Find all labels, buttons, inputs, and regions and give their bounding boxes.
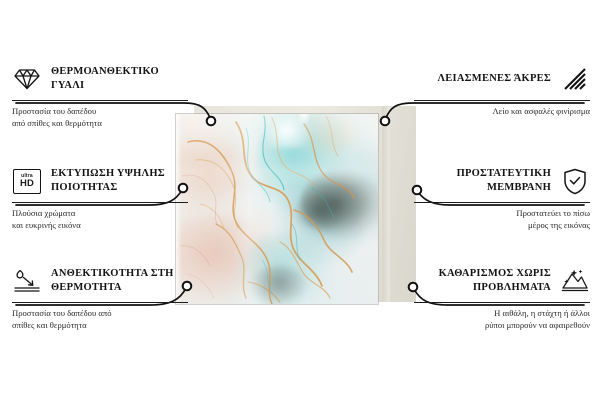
shield-check-icon [560, 166, 590, 196]
marble-artwork [176, 114, 378, 304]
feature-description: Προστασία του δαπέδου από σπίθες και θερ… [12, 307, 188, 332]
glass-sheen-spot [297, 114, 311, 125]
artwork-gold-veins [176, 114, 378, 304]
glass-panel [176, 114, 378, 304]
feature-divider [414, 302, 590, 303]
backing-board-edge [382, 106, 390, 302]
feature-description: Λείο και ασφαλές φινίρισμα [414, 105, 590, 117]
feature-header: ΘΕΡΜΟΑΝΘΕΚΤΙΚΟ ΓΥΑΛΙ [12, 62, 188, 96]
feature-divider [414, 202, 590, 203]
polished-edges-icon [560, 64, 590, 94]
feature-title: ΘΕΡΜΟΑΝΘΕΚΤΙΚΟ ΓΥΑΛΙ [51, 65, 188, 93]
ultra-hd-icon: ultra HD [12, 166, 42, 196]
feature-divider [414, 100, 590, 101]
feature-title: ΛΕΙΑΣΜΕΝΕΣ ΆΚΡΕΣ [414, 72, 551, 86]
feature-divider [12, 100, 188, 101]
feature-title: ΠΡΟΣΤΑΤΕΥΤΙΚΗ ΜΕΜΒΡΑΝΗ [414, 167, 551, 195]
feature-title: ΚΑΘΑΡΙΣΜΟΣ ΧΩΡΙΣ ΠΡΟΒΛΗΜΑΤΑ [414, 267, 551, 295]
feature-description: Η αιθάλη, η στάχτη ή άλλοι ρύποι μπορούν… [414, 307, 590, 332]
heat-deflection-icon [12, 266, 42, 296]
infographic-canvas: ΘΕΡΜΟΑΝΘΕΚΤΙΚΟ ΓΥΑΛΙ Προστασία του δαπέδ… [0, 0, 600, 400]
sparkle-clean-icon [560, 266, 590, 296]
feature-description: Πλούσια χρώματα και ευκρινής εικόνα [12, 207, 188, 232]
feature-block-heat-durability: ΑΝΘΕΚΤΙΚΟΤΗΤΑ ΣΤΗ ΘΕΡΜΟΤΗΤΑ Προστασία το… [12, 264, 188, 332]
feature-description: Προστασία του δαπέδου από σπίθες και θερ… [12, 105, 188, 130]
feature-divider [12, 302, 188, 303]
feature-block-polished-edges: ΛΕΙΑΣΜΕΝΕΣ ΆΚΡΕΣ Λείο και ασφαλές φινίρι… [414, 62, 590, 117]
feature-header: ΑΝΘΕΚΤΙΚΟΤΗΤΑ ΣΤΗ ΘΕΡΜΟΤΗΤΑ [12, 264, 188, 298]
feature-description: Προστατεύει το πίσω μέρος της εικόνας [414, 207, 590, 232]
feature-block-protective-membrane: ΠΡΟΣΤΑΤΕΥΤΙΚΗ ΜΕΜΒΡΑΝΗ Προστατεύει το πί… [414, 164, 590, 232]
feature-divider [12, 202, 188, 203]
feature-header: ultra HD ΕΚΤΥΠΩΣΗ ΥΨΗΛΗΣ ΠΟΙΟΤΗΤΑΣ [12, 164, 188, 198]
feature-block-heat-resistant-glass: ΘΕΡΜΟΑΝΘΕΚΤΙΚΟ ΓΥΑΛΙ Προστασία του δαπέδ… [12, 62, 188, 130]
feature-header: ΛΕΙΑΣΜΕΝΕΣ ΆΚΡΕΣ [414, 62, 590, 96]
diamond-icon [12, 64, 42, 94]
feature-title: ΑΝΘΕΚΤΙΚΟΤΗΤΑ ΣΤΗ ΘΕΡΜΟΤΗΤΑ [51, 267, 188, 295]
feature-block-high-quality-print: ultra HD ΕΚΤΥΠΩΣΗ ΥΨΗΛΗΣ ΠΟΙΟΤΗΤΑΣ Πλούσ… [12, 164, 188, 232]
feature-title: ΕΚΤΥΠΩΣΗ ΥΨΗΛΗΣ ΠΟΙΟΤΗΤΑΣ [51, 167, 188, 195]
ultra-hd-bottom-text: HD [20, 179, 34, 189]
feature-header: ΠΡΟΣΤΑΤΕΥΤΙΚΗ ΜΕΜΒΡΑΝΗ [414, 164, 590, 198]
feature-header: ΚΑΘΑΡΙΣΜΟΣ ΧΩΡΙΣ ΠΡΟΒΛΗΜΑΤΑ [414, 264, 590, 298]
feature-block-easy-cleaning: ΚΑΘΑΡΙΣΜΟΣ ΧΩΡΙΣ ΠΡΟΒΛΗΜΑΤΑ Η αιθάλη, η … [414, 264, 590, 332]
product-image-group [176, 104, 422, 304]
